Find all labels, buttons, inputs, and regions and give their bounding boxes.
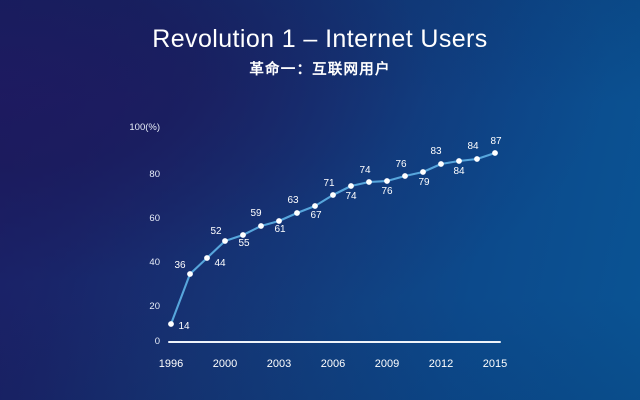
data-point-label: 71 [315,178,343,189]
y-axis-tick-label: 0 [100,336,160,347]
title-block: Revolution 1 – Internet Users 革命一：互联网用户 [0,24,640,80]
data-point[interactable] [222,238,228,244]
data-point[interactable] [384,178,390,184]
page-subtitle: 革命一：互联网用户 [0,61,640,80]
slide-canvas: Revolution 1 – Internet Users 革命一：互联网用户 … [0,0,640,400]
data-point[interactable] [474,156,480,162]
y-axis-tick-label: 40 [100,257,160,268]
data-point-label: 79 [410,177,438,188]
data-point-label: 55 [230,238,258,249]
data-point-label: 76 [373,186,401,197]
data-point-label: 67 [302,210,330,221]
y-axis-tick-label: 100(%) [100,122,160,133]
data-point[interactable] [420,169,426,175]
x-axis-tick-label: 2006 [308,358,358,371]
data-point[interactable] [402,173,408,179]
data-point[interactable] [187,271,193,277]
data-point-label: 87 [482,136,510,147]
data-point[interactable] [348,183,354,189]
data-point-label: 74 [337,191,365,202]
x-axis-tick-label: 1996 [146,358,196,371]
data-point-label: 76 [387,159,415,170]
data-point[interactable] [456,158,462,164]
page-title: Revolution 1 – Internet Users [0,24,640,54]
data-point-label: 44 [206,258,234,269]
data-point-label: 36 [166,260,194,271]
data-point-label: 14 [170,321,198,332]
data-point-label: 74 [351,165,379,176]
data-point-label: 59 [242,208,270,219]
y-axis-tick-label: 20 [100,301,160,312]
x-axis-tick-label: 2012 [416,358,466,371]
data-point-label: 84 [445,166,473,177]
data-point[interactable] [258,223,264,229]
data-point-label: 52 [202,226,230,237]
data-point[interactable] [438,161,444,167]
x-axis-line [168,341,501,343]
x-axis-tick-label: 2003 [254,358,304,371]
data-point[interactable] [330,192,336,198]
x-axis-tick-label: 2015 [470,358,520,371]
x-axis-tick-label: 2009 [362,358,412,371]
data-point[interactable] [312,203,318,209]
y-axis-tick-label: 60 [100,213,160,224]
data-point-label: 61 [266,224,294,235]
data-point[interactable] [294,210,300,216]
data-point[interactable] [492,150,498,156]
data-point-label: 83 [422,146,450,157]
data-point[interactable] [366,179,372,185]
data-point-label: 63 [279,195,307,206]
y-axis-tick-label: 80 [100,169,160,180]
x-axis-tick-label: 2000 [200,358,250,371]
